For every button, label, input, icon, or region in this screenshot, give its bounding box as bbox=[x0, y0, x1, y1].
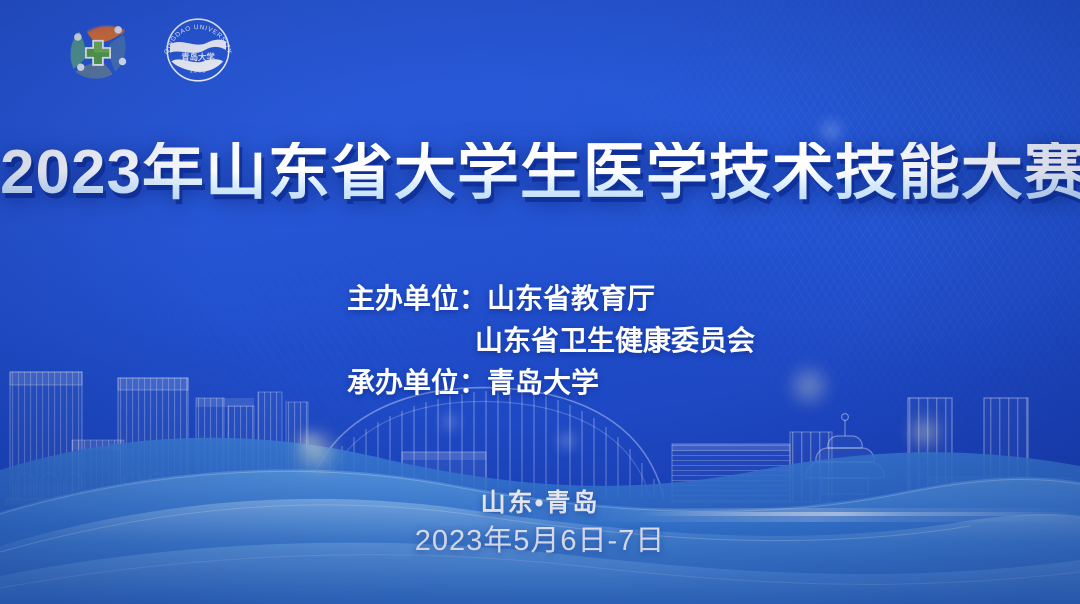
footer-block: 山东•青岛 2023年5月6日-7日 bbox=[0, 486, 1080, 562]
organizer-block: 主办单位：山东省教育厅 山东省卫生健康委员会 承办单位：青岛大学 bbox=[347, 278, 755, 404]
event-location: 山东•青岛 bbox=[0, 486, 1080, 520]
svg-text:青岛大学: 青岛大学 bbox=[181, 52, 215, 62]
organizer-line-host-second: 山东省卫生健康委员会 bbox=[347, 320, 755, 362]
svg-text:1909: 1909 bbox=[189, 65, 207, 74]
medical-skills-emblem-icon bbox=[62, 14, 134, 86]
poster-canvas: QINGDAO UNIVERSITY 青岛大学 1909 2023年山东省大学生… bbox=[0, 0, 1080, 604]
page-title: 2023年山东省大学生医学技术技能大赛 bbox=[0, 142, 1080, 204]
event-date: 2023年5月6日-7日 bbox=[0, 520, 1080, 562]
qingdao-university-logo-icon: QINGDAO UNIVERSITY 青岛大学 1909 bbox=[156, 8, 240, 92]
organizer-line-host: 主办单位：山东省教育厅 bbox=[347, 278, 755, 320]
organizer-line-cohost: 承办单位：青岛大学 bbox=[347, 362, 755, 404]
logo-row: QINGDAO UNIVERSITY 青岛大学 1909 bbox=[62, 8, 240, 92]
